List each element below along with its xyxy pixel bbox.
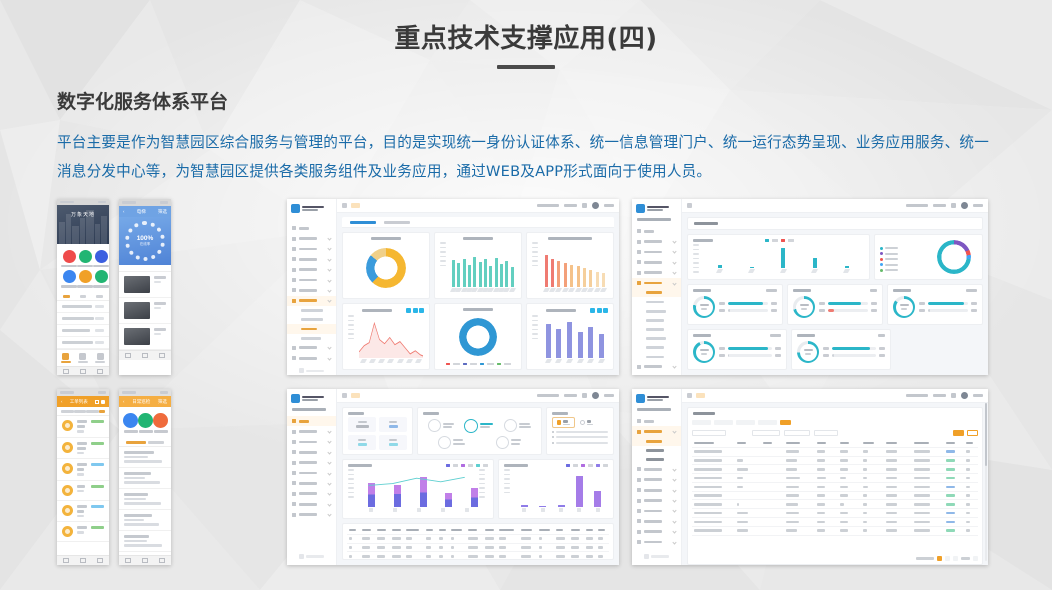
scan-icon[interactable] [95, 400, 99, 404]
sidebar[interactable] [287, 389, 337, 565]
sidebar-item-workorder[interactable] [287, 426, 336, 436]
list-item[interactable] [57, 481, 109, 501]
sidebar-subitem-monitor-overview[interactable] [632, 288, 681, 297]
bar-chart [440, 242, 516, 294]
device-thumbnail [124, 276, 150, 293]
nav-bar[interactable]: ‹ 工单列表 [57, 396, 109, 407]
content-tabs[interactable] [57, 292, 109, 301]
device-thumbnail [124, 302, 150, 319]
status-bar [57, 389, 109, 396]
table-row[interactable] [692, 491, 978, 500]
slide-page: 重点技术支撑应用(四) 数字化服务体系平台 平台主要是作为智慧园区综合服务与管理… [0, 0, 1052, 590]
sidebar-item-device[interactable] [287, 468, 336, 478]
list-item[interactable] [57, 416, 109, 438]
ring-gauge [693, 341, 715, 363]
screenshot-mobile-portal-home[interactable]: 万象天地 [57, 199, 109, 375]
sidebar[interactable] [287, 199, 337, 375]
table-row[interactable] [347, 552, 609, 560]
card-monthly-workorder-stats[interactable] [342, 459, 494, 519]
topbar-link-help[interactable] [537, 204, 559, 207]
workorder-list[interactable] [57, 416, 109, 555]
nav-bar[interactable]: ‹ 电梯 筛选 [119, 206, 171, 217]
filter-chips[interactable] [688, 417, 982, 427]
hero-label: 万象天地 [71, 211, 95, 218]
breadcrumb [696, 393, 705, 398]
sidebar-item-home[interactable] [632, 416, 681, 426]
topbar-link-help[interactable] [906, 204, 928, 207]
sidebar-item-device[interactable] [632, 495, 681, 505]
quick-action-grid[interactable] [57, 244, 109, 292]
menu-toggle-icon[interactable] [342, 203, 347, 208]
card-operations-overview[interactable] [417, 407, 542, 455]
workorder-icon [62, 463, 73, 474]
list-item[interactable] [119, 468, 171, 489]
slide-header: 重点技术支撑应用(四) [0, 0, 1052, 69]
android-nav-keys[interactable] [119, 350, 171, 360]
sidebar-item-settings[interactable] [632, 527, 681, 537]
nav-bar[interactable]: ‹ 日常巡检 筛选 [119, 396, 171, 407]
workorder-table[interactable] [692, 439, 978, 536]
menu-toggle-icon[interactable] [342, 393, 347, 398]
brand-logo [632, 199, 681, 217]
logo-mark [636, 204, 645, 213]
bar-chart [504, 469, 608, 514]
chart-legend [440, 361, 516, 366]
back-icon[interactable]: ‹ [123, 399, 125, 404]
list-item[interactable] [119, 531, 171, 552]
sidebar-item-report[interactable] [287, 285, 336, 295]
logo-mark [291, 394, 300, 403]
table-row[interactable] [692, 474, 978, 483]
sidebar-item-report[interactable] [632, 362, 681, 372]
tab-device-inspection[interactable] [148, 441, 164, 444]
status-bar [119, 389, 171, 396]
tab-all-plans[interactable] [126, 441, 146, 444]
kpi-tile [379, 435, 407, 450]
sidebar-subitem-reject-stats[interactable] [287, 315, 336, 324]
bottom-tab-bar[interactable] [57, 349, 109, 367]
reset-button[interactable] [967, 430, 978, 436]
topbar-link-download[interactable] [564, 394, 577, 397]
page-2[interactable] [945, 556, 950, 561]
recents-key[interactable] [97, 369, 103, 374]
ring-gauge [893, 296, 915, 318]
workorder-icon [62, 420, 73, 431]
tab-pending[interactable] [61, 410, 74, 413]
card-device-distribution[interactable] [687, 234, 870, 280]
nav-title: 工单列表 [70, 399, 88, 405]
data-table[interactable] [347, 526, 609, 560]
avatar[interactable] [961, 392, 968, 399]
panel-title [693, 412, 715, 415]
sidebar-item-billing[interactable] [632, 485, 681, 495]
top-bar[interactable] [337, 389, 619, 403]
sidebar-subitem-device-alarm[interactable] [632, 316, 681, 325]
menu-toggle-icon[interactable] [687, 393, 692, 398]
sidebar-subitem-dispatch[interactable] [632, 446, 681, 455]
more-filters[interactable] [938, 430, 950, 436]
sidebar-item-device[interactable] [287, 275, 336, 285]
top-bar[interactable] [682, 199, 988, 213]
list-item[interactable] [57, 337, 109, 349]
workorder-icon [62, 505, 73, 516]
quick-action-monitor[interactable] [93, 250, 109, 268]
tab-all[interactable] [99, 410, 105, 413]
username[interactable] [973, 204, 983, 207]
line-chart [348, 315, 424, 365]
table-row[interactable] [692, 526, 978, 535]
tab-inspection[interactable] [80, 295, 87, 298]
chart-export-icon[interactable] [419, 308, 424, 313]
table-row[interactable] [347, 543, 609, 552]
list-item[interactable] [57, 459, 109, 481]
list-item[interactable] [119, 272, 171, 298]
card-monthly-alarm-stats[interactable] [498, 459, 614, 519]
bar-chart [532, 315, 608, 365]
section-title: 数字化服务体系平台 [57, 87, 1052, 114]
screenshot-desktop-operations-overview[interactable] [287, 389, 619, 565]
chart-type-line-icon[interactable] [597, 308, 602, 313]
bar-chart [532, 242, 608, 294]
logo-mark [636, 394, 645, 403]
sidebar-item-home[interactable] [287, 223, 336, 233]
quick-action-patrol[interactable] [61, 270, 77, 288]
card-repair-type[interactable] [434, 232, 522, 299]
news-list[interactable] [57, 301, 109, 349]
workorder-icon [62, 442, 73, 453]
sidebar-subitem-ops-stats[interactable] [287, 334, 336, 343]
vertical-scrollbar[interactable] [985, 403, 987, 561]
filter-button[interactable]: 筛选 [158, 209, 167, 215]
card-latest-notice[interactable] [546, 407, 614, 455]
sidebar-item-customer[interactable] [632, 247, 681, 257]
card-workorder-status[interactable] [434, 303, 522, 370]
sidebar-item-analytics[interactable] [287, 489, 336, 499]
card-top10-ranking[interactable] [526, 232, 614, 299]
card-kpi-fire-safety[interactable] [687, 329, 787, 370]
chip-completed[interactable] [758, 420, 777, 425]
list-item[interactable] [57, 313, 109, 325]
home-key[interactable] [142, 558, 148, 563]
table-row[interactable] [692, 509, 978, 518]
platform-name [292, 408, 326, 411]
filter-button[interactable]: 筛选 [158, 399, 167, 405]
card-basic-info[interactable] [342, 407, 413, 455]
sidebar-item-customer[interactable] [287, 437, 336, 447]
android-nav-keys[interactable] [119, 555, 171, 565]
platform-name [637, 408, 671, 411]
list-item[interactable] [119, 447, 171, 468]
back-key[interactable] [63, 369, 69, 374]
page-3[interactable] [953, 556, 958, 561]
pie-chart [366, 248, 406, 288]
sidebar[interactable] [632, 199, 682, 375]
stacked-bar-chart [348, 469, 488, 514]
brand-logo [632, 389, 681, 407]
chip-all-workorders[interactable] [692, 420, 711, 425]
card-kpi-elevator[interactable] [791, 329, 891, 370]
sidebar-item-home[interactable] [632, 226, 681, 236]
bell-icon[interactable] [582, 203, 587, 208]
kpi-tile [348, 435, 376, 450]
sidebar-item-workorder[interactable] [632, 426, 681, 436]
pie-chart [459, 318, 497, 356]
quick-action-inspection[interactable] [77, 270, 93, 288]
hero-banner: 万象天地 [57, 205, 109, 244]
status-select[interactable] [814, 430, 838, 436]
platform-name [637, 218, 671, 221]
recents-key[interactable] [159, 353, 165, 358]
table-row[interactable] [692, 518, 978, 527]
page-tabs[interactable] [342, 217, 614, 228]
username[interactable] [604, 204, 614, 207]
card-monthly-repair-trend[interactable] [342, 303, 430, 370]
device-thumbnail [124, 328, 150, 345]
list-item[interactable] [57, 301, 109, 313]
list-item[interactable] [57, 501, 109, 523]
chart-type-line-icon[interactable] [413, 308, 418, 313]
screenshot-desktop-workorder-table[interactable] [632, 389, 988, 565]
tab-completed[interactable] [86, 410, 99, 413]
table-row[interactable] [692, 465, 978, 474]
recents-key[interactable] [159, 558, 165, 563]
tabbar-message[interactable] [74, 350, 91, 367]
pie-chart [937, 240, 971, 274]
tab-workorder-stats[interactable] [350, 221, 376, 224]
back-key[interactable] [63, 558, 69, 563]
table-row[interactable] [692, 456, 978, 465]
body-paragraph: 平台主要是作为智慧园区综合服务与管理的平台，目的是实现统一身份认证体系、统一信息… [57, 128, 997, 186]
sidebar-item-workorder[interactable] [287, 233, 336, 243]
workorder-icon [62, 526, 73, 537]
add-icon[interactable] [101, 400, 105, 404]
avatar[interactable] [961, 202, 968, 209]
chart-type-bar-icon[interactable] [406, 308, 411, 313]
menu-toggle-icon[interactable] [687, 203, 692, 208]
screenshot-mobile-device-gauge[interactable]: ‹ 电梯 筛选 100% 在线率 [119, 199, 171, 375]
page-next[interactable] [973, 556, 978, 561]
sidebar-item-billing[interactable] [287, 265, 336, 275]
list-item[interactable] [119, 324, 171, 350]
top-bar[interactable] [682, 389, 988, 403]
search-button[interactable] [953, 430, 964, 436]
top-bar[interactable] [337, 199, 619, 213]
pagination[interactable] [688, 553, 982, 564]
quick-action-maintenance[interactable] [93, 270, 109, 288]
quick-action-completed[interactable] [138, 413, 153, 433]
sidebar-item-analytics[interactable] [632, 516, 681, 526]
sidebar-item-home[interactable] [287, 416, 336, 426]
panel-title [694, 222, 718, 225]
chart-export-icon[interactable] [603, 308, 608, 313]
card-kpi-environment[interactable] [887, 284, 983, 325]
screenshot-mobile-daily-inspection[interactable]: ‹ 日常巡检 筛选 [119, 389, 171, 565]
sidebar-subitem-video-monitor[interactable] [632, 297, 681, 306]
sidebar-subitem-invoice-stats[interactable] [287, 306, 336, 315]
sidebar-item-contract[interactable] [287, 447, 336, 457]
bell-icon[interactable] [951, 393, 956, 398]
list-item[interactable] [57, 522, 109, 542]
card-region-distribution[interactable] [342, 232, 430, 299]
type-select[interactable] [784, 430, 810, 436]
quick-action-repair[interactable] [77, 250, 93, 268]
sidebar-footer [287, 363, 336, 375]
tabbar-profile[interactable] [92, 350, 109, 367]
sidebar-subitem-workorder-stats[interactable] [287, 324, 336, 333]
page-1[interactable] [937, 556, 942, 561]
screenshot-desktop-analytics-dashboard[interactable] [287, 199, 619, 375]
sidebar-item-settings[interactable] [287, 499, 336, 509]
ring-gauge [797, 341, 819, 363]
android-nav-keys[interactable] [57, 366, 109, 375]
sidebar-subitem-followup[interactable] [632, 455, 681, 464]
quick-action-notice[interactable] [61, 250, 77, 268]
topbar-link-download[interactable] [933, 204, 946, 207]
nav-title: 电梯 [137, 209, 146, 215]
segment-tabs[interactable] [119, 265, 171, 272]
sidebar-item-system[interactable] [287, 509, 336, 519]
sidebar-subitem-elevator-monitor[interactable] [632, 352, 681, 361]
title-underline [497, 65, 555, 69]
bar-chart [693, 244, 864, 275]
android-nav-keys[interactable] [57, 555, 109, 565]
device-list[interactable] [119, 272, 171, 350]
breadcrumb [351, 203, 360, 208]
back-key[interactable] [125, 558, 131, 563]
sidebar-subitem-device-map[interactable] [632, 307, 681, 316]
list-item[interactable] [57, 438, 109, 460]
screenshot-gallery: 万象天地 [0, 199, 1052, 579]
topbar-link-download[interactable] [564, 204, 577, 207]
home-key[interactable] [142, 353, 148, 358]
card-placeholder [895, 329, 983, 370]
quick-action-records[interactable] [153, 413, 168, 433]
card-kpi-video-monitor[interactable] [787, 284, 883, 325]
kpi-tile [348, 417, 376, 432]
chip-processing[interactable] [736, 420, 755, 425]
notice-badge [552, 417, 575, 428]
online-rate-gauge: 100% 在线率 [125, 221, 165, 261]
table-row[interactable] [347, 534, 609, 543]
tabbar-home[interactable] [57, 350, 74, 367]
filter-bar[interactable] [688, 427, 982, 439]
search-input[interactable] [692, 430, 726, 436]
tab-maintenance[interactable] [96, 295, 103, 298]
quick-action-pending-inspection[interactable] [123, 413, 138, 433]
chip-all[interactable] [780, 420, 791, 425]
sidebar-item-report[interactable] [632, 506, 681, 516]
home-key[interactable] [80, 369, 86, 374]
filter-tabs[interactable] [57, 407, 109, 416]
screenshot-desktop-device-monitor[interactable] [632, 199, 988, 375]
tab-news[interactable] [63, 295, 70, 298]
table-row[interactable] [692, 447, 978, 456]
logo-mark [291, 204, 300, 213]
avatar[interactable] [592, 202, 599, 209]
sidebar-item-report[interactable] [287, 478, 336, 488]
brand-logo [287, 199, 336, 217]
list-item[interactable] [57, 325, 109, 337]
bell-icon[interactable] [951, 203, 956, 208]
topbar-link-help[interactable] [906, 394, 928, 397]
list-item[interactable] [119, 489, 171, 510]
quick-action-row[interactable] [119, 407, 171, 438]
card-type-ratio[interactable] [874, 234, 983, 280]
recents-key[interactable] [97, 558, 103, 563]
sidebar-item-system[interactable] [287, 353, 336, 363]
customer-select[interactable] [752, 430, 780, 436]
avatar[interactable] [592, 392, 599, 399]
sidebar-item-billing[interactable] [632, 268, 681, 278]
sidebar-footer [632, 549, 681, 565]
table-header-row [347, 526, 609, 534]
card-kpi-access-control[interactable] [687, 284, 783, 325]
table-row[interactable] [692, 500, 978, 509]
tab-workorder-stats-2[interactable] [384, 221, 410, 224]
brand-logo [287, 389, 336, 407]
sidebar-item-billing[interactable] [287, 458, 336, 468]
tab-inprogress[interactable] [74, 410, 87, 413]
sidebar-item-settings[interactable] [287, 343, 336, 353]
content-tabs[interactable] [119, 438, 171, 447]
username[interactable] [604, 394, 614, 397]
sidebar-item-customer[interactable] [632, 464, 681, 474]
sidebar-subitem-energy-monitor[interactable] [632, 325, 681, 334]
topbar-link-help[interactable] [537, 394, 559, 397]
screenshot-mobile-workorder-list[interactable]: ‹ 工单列表 [57, 389, 109, 565]
sidebar[interactable] [632, 389, 682, 565]
sidebar-item-contract[interactable] [632, 475, 681, 485]
workorder-icon [62, 485, 73, 496]
card-data-table[interactable] [342, 523, 614, 560]
sidebar-subitem-all-workorders[interactable] [632, 437, 681, 446]
bell-icon[interactable] [582, 393, 587, 398]
list-item[interactable] [119, 298, 171, 324]
sidebar-item-contract[interactable] [287, 254, 336, 264]
sidebar-item-analytics[interactable] [287, 296, 336, 306]
back-icon[interactable]: ‹ [61, 399, 63, 404]
sidebar-item-contract[interactable] [632, 257, 681, 267]
chip-pending-dispatch[interactable] [714, 420, 733, 425]
kpi-tile [379, 417, 407, 432]
pagination-goto[interactable] [961, 557, 970, 560]
topbar-link-download[interactable] [933, 394, 946, 397]
gauge-label: 在线率 [140, 242, 151, 247]
chart-type-bar-icon[interactable] [590, 308, 595, 313]
back-key[interactable] [125, 353, 131, 358]
list-item[interactable] [119, 510, 171, 531]
username[interactable] [973, 394, 983, 397]
breadcrumb [351, 393, 360, 398]
sidebar-item-system[interactable] [632, 537, 681, 547]
segment-normal[interactable] [136, 265, 153, 271]
sidebar-subitem-env-monitor[interactable] [632, 334, 681, 343]
sidebar-item-workorder[interactable] [632, 236, 681, 246]
home-key[interactable] [80, 558, 86, 563]
inspection-list[interactable] [119, 447, 171, 556]
page-title: 重点技术支撑应用(四) [0, 18, 1052, 55]
back-icon[interactable]: ‹ [123, 209, 125, 214]
table-row[interactable] [692, 482, 978, 491]
sidebar-item-device-monitor[interactable] [632, 278, 681, 288]
card-monthly-fault[interactable] [526, 303, 614, 370]
sidebar-subitem-access-control[interactable] [632, 343, 681, 352]
segment-all[interactable] [119, 265, 136, 271]
sidebar-item-customer[interactable] [287, 244, 336, 254]
gauge-panel: 100% 在线率 [119, 217, 171, 265]
segment-abnormal[interactable] [154, 265, 171, 271]
notice-badge-2 [580, 420, 593, 426]
